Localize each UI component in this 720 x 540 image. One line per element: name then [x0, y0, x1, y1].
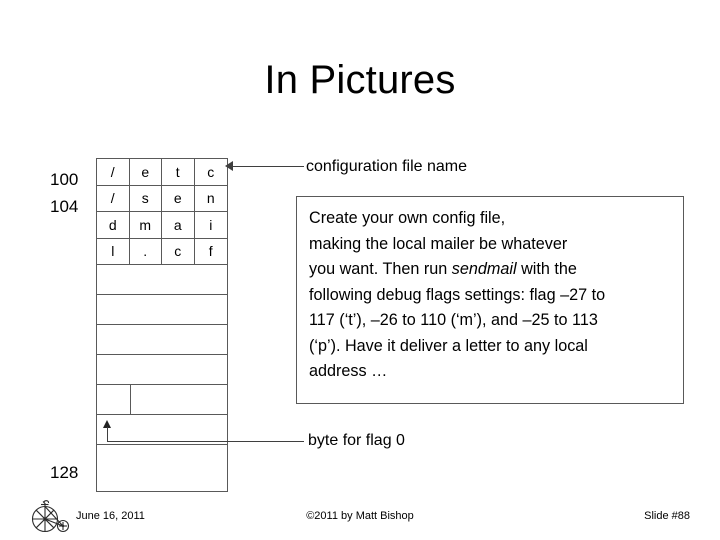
memory-row: / s e n — [97, 186, 227, 213]
description-line: following debug flags settings: flag –27… — [309, 283, 671, 309]
address-label-100: 100 — [50, 171, 78, 188]
memory-cell: l — [97, 239, 130, 265]
description-line: address … — [309, 359, 671, 385]
description-line: you want. Then run sendmail with the — [309, 257, 671, 283]
memory-row: d m a i — [97, 212, 227, 239]
footer-copyright: ©2011 by Matt Bishop — [0, 511, 720, 522]
memory-cell: m — [130, 212, 163, 238]
memory-cell: a — [162, 212, 195, 238]
leader-line — [232, 166, 304, 167]
description-line: Create your own config file, — [309, 206, 671, 232]
memory-cell: n — [195, 186, 228, 212]
description-line: making the local mailer be whatever — [309, 232, 671, 258]
memory-cell: c — [195, 159, 228, 185]
page-title: In Pictures — [0, 58, 720, 102]
partial-divider-line — [130, 385, 131, 414]
memory-cell: d — [97, 212, 130, 238]
memory-row-empty — [97, 445, 227, 475]
memory-row-partial-divider — [97, 385, 227, 415]
memory-cell: / — [97, 186, 130, 212]
address-label-104: 104 — [50, 198, 78, 215]
memory-cell: c — [162, 239, 195, 265]
description-line: (‘p’). Have it deliver a letter to any l… — [309, 334, 671, 360]
memory-row-empty — [97, 325, 227, 355]
footer-slide-number: Slide #88 — [644, 511, 690, 522]
sendmail-emphasis: sendmail — [452, 260, 517, 278]
memory-cell: f — [195, 239, 228, 265]
leader-line — [107, 441, 304, 442]
description-text: with the — [517, 260, 577, 278]
memory-row: / e t c — [97, 159, 227, 186]
memory-cell: . — [130, 239, 163, 265]
memory-row-empty — [97, 295, 227, 325]
memory-cell: t — [162, 159, 195, 185]
description-line: 117 (‘t’), –26 to 110 (‘m’), and –25 to … — [309, 308, 671, 334]
description-text-box: Create your own config file, making the … — [296, 196, 684, 404]
description-text: you want. Then run — [309, 260, 452, 278]
memory-cell: / — [97, 159, 130, 185]
memory-cell: i — [195, 212, 228, 238]
memory-cell: e — [162, 186, 195, 212]
callout-byte-for-flag: byte for flag 0 — [308, 433, 405, 449]
memory-row-empty — [97, 265, 227, 295]
leader-line-vertical — [107, 427, 108, 441]
memory-cell: e — [130, 159, 163, 185]
memory-row-empty — [97, 355, 227, 385]
memory-cell: s — [130, 186, 163, 212]
address-label-128: 128 — [50, 464, 78, 481]
callout-config-file-name: configuration file name — [306, 159, 467, 175]
memory-row: l . c f — [97, 239, 227, 266]
